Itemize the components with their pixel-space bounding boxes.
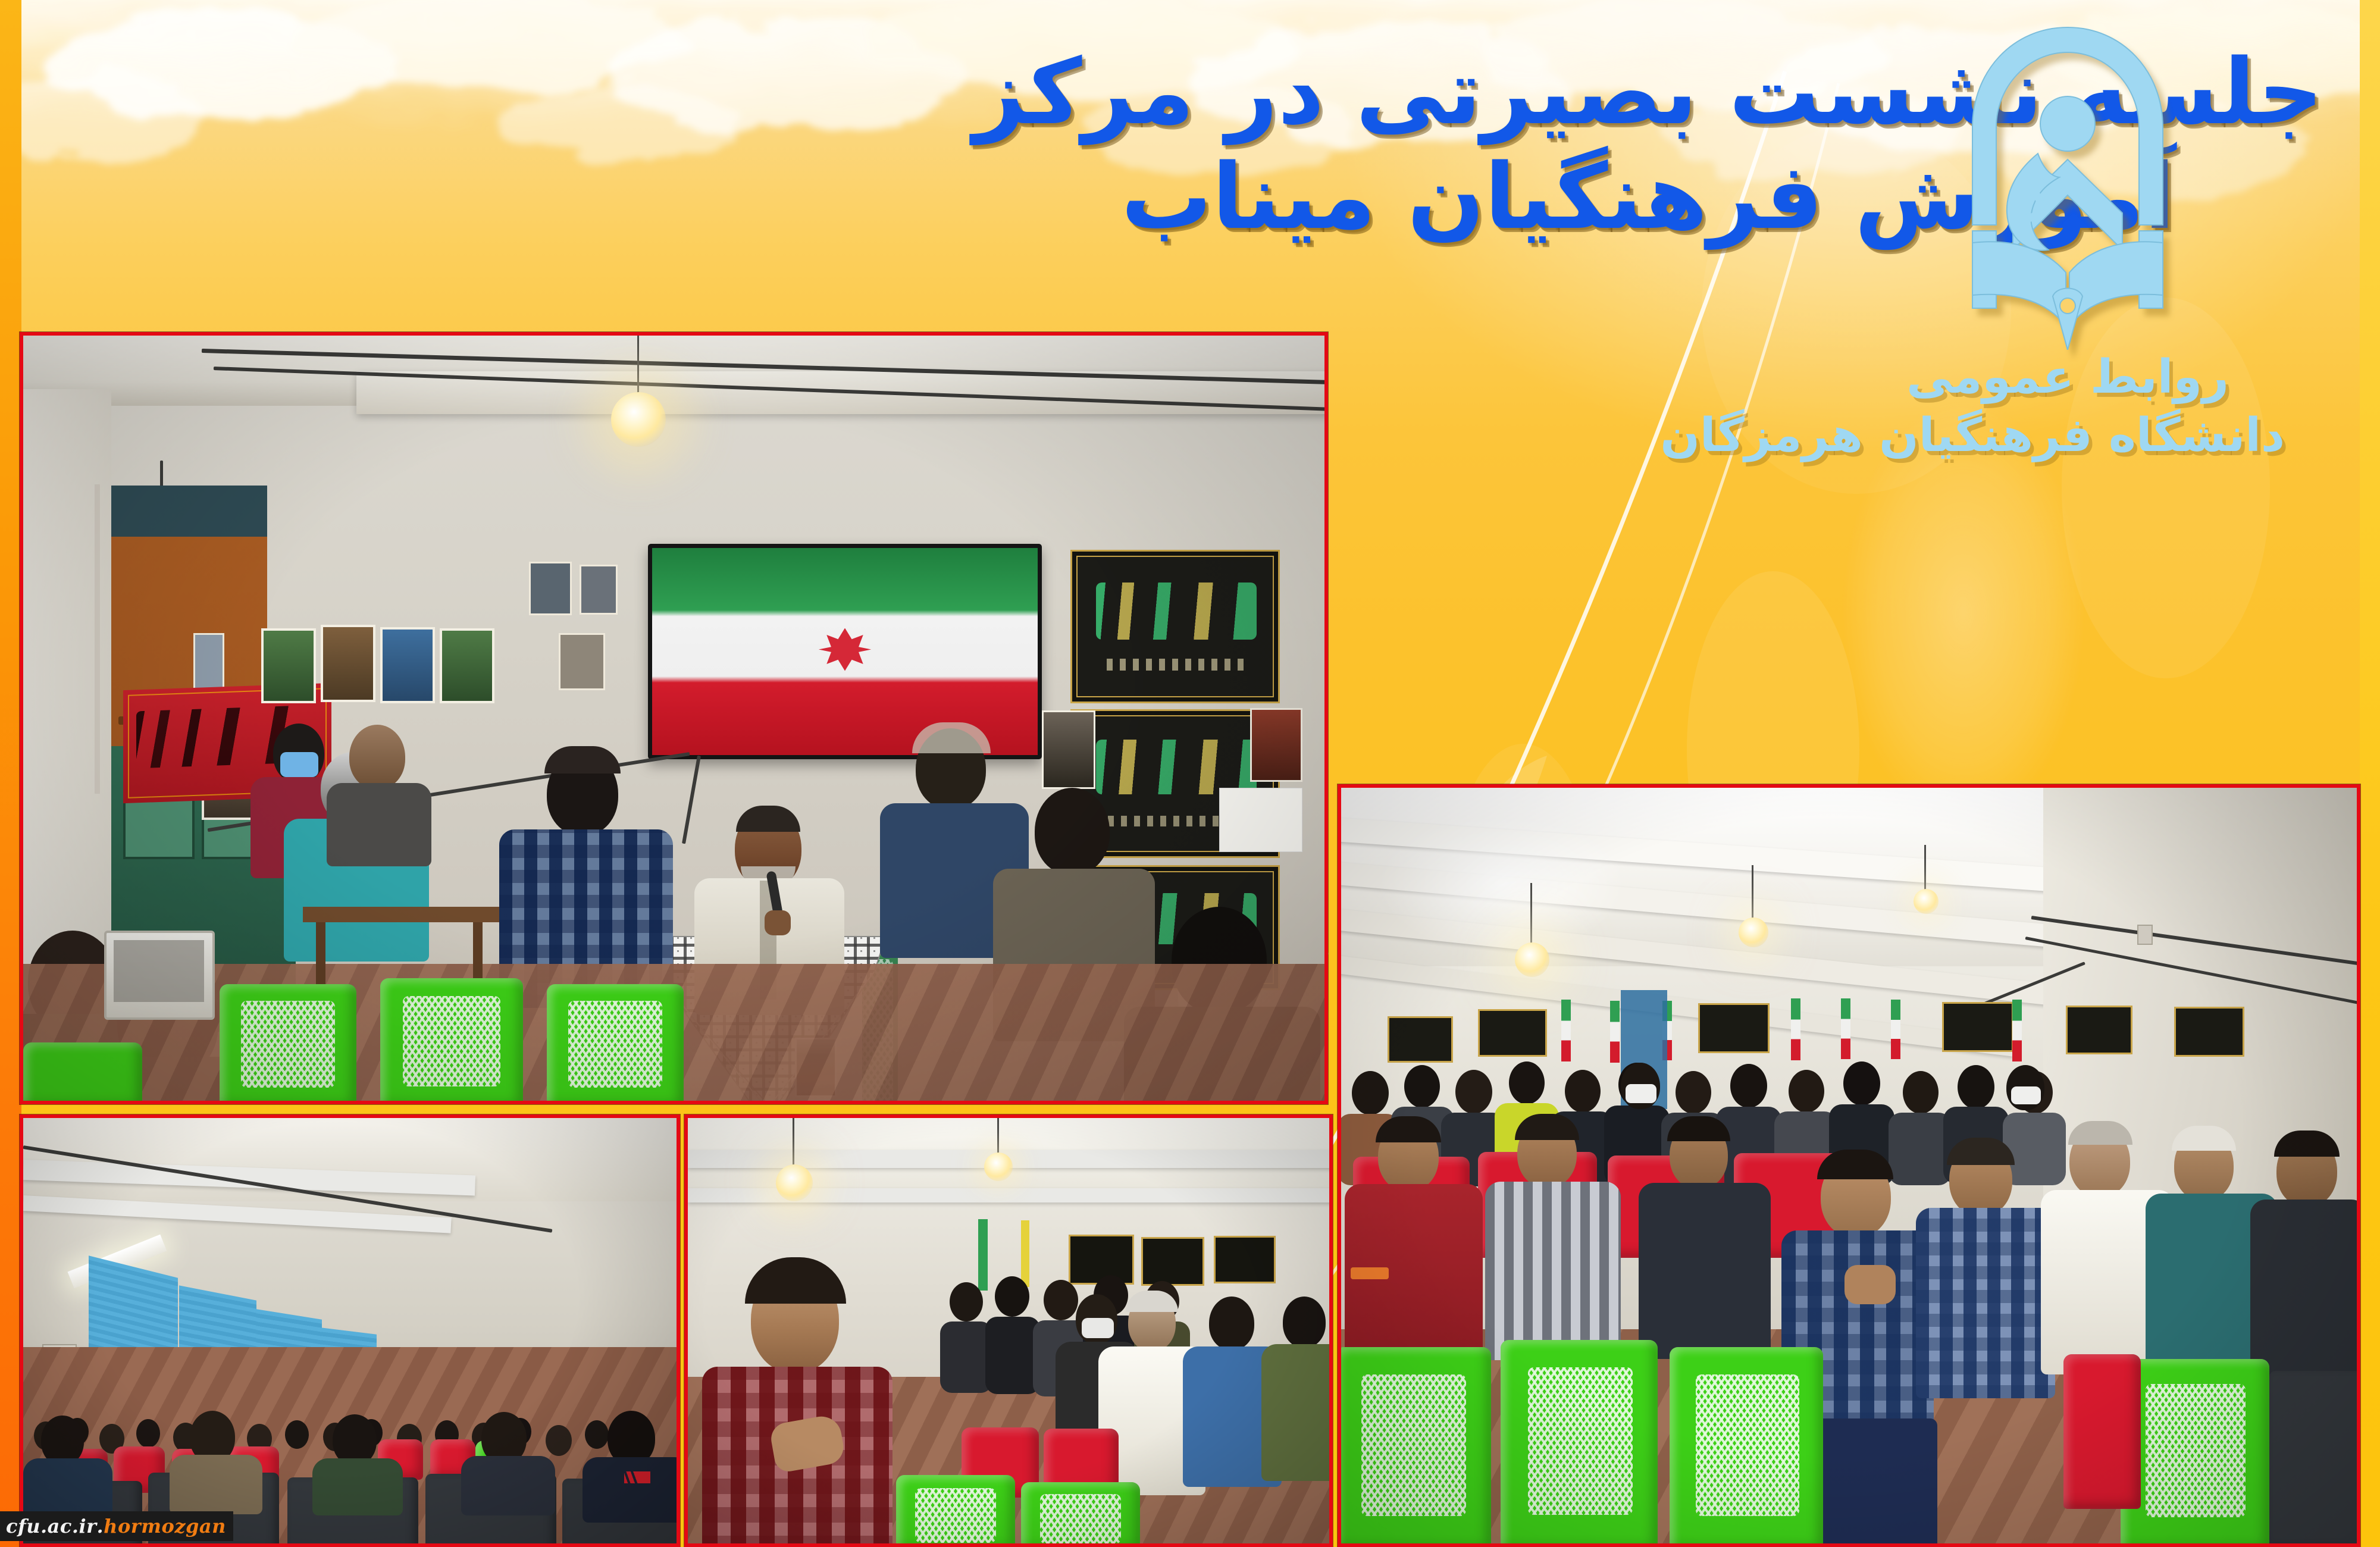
- cfu-arch-book-pen-icon: [1949, 17, 2187, 350]
- poster-canvas: جلسه نشست بصیرتی در مرکز آموزش فرهنگیان …: [0, 0, 2380, 1547]
- seated-audience-photo: [1338, 784, 2360, 1547]
- watermark-part-1: hormozgan: [104, 1515, 226, 1537]
- left-accent-band: [0, 0, 21, 1547]
- logo-caption-line-1: روابط عمومی: [1850, 350, 2285, 405]
- standing-attendees-photo: [684, 1114, 1333, 1547]
- hall-wide-view-photo: [20, 1114, 680, 1547]
- organization-logo: روابط عمومی دانشگاه فرهنگیان هرمزگان: [1850, 17, 2285, 463]
- logo-caption-line-2: دانشگاه فرهنگیان هرمزگان: [1850, 408, 2285, 463]
- watermark-part-2: .cfu.ac.ir: [6, 1515, 104, 1537]
- logo-caption: روابط عمومی دانشگاه فرهنگیان هرمزگان: [1850, 350, 2285, 463]
- right-accent-band: [2360, 0, 2380, 1547]
- site-watermark: hormozgan .cfu.ac.ir: [0, 1511, 233, 1541]
- speaker-at-podium-main-photo: [20, 332, 1328, 1104]
